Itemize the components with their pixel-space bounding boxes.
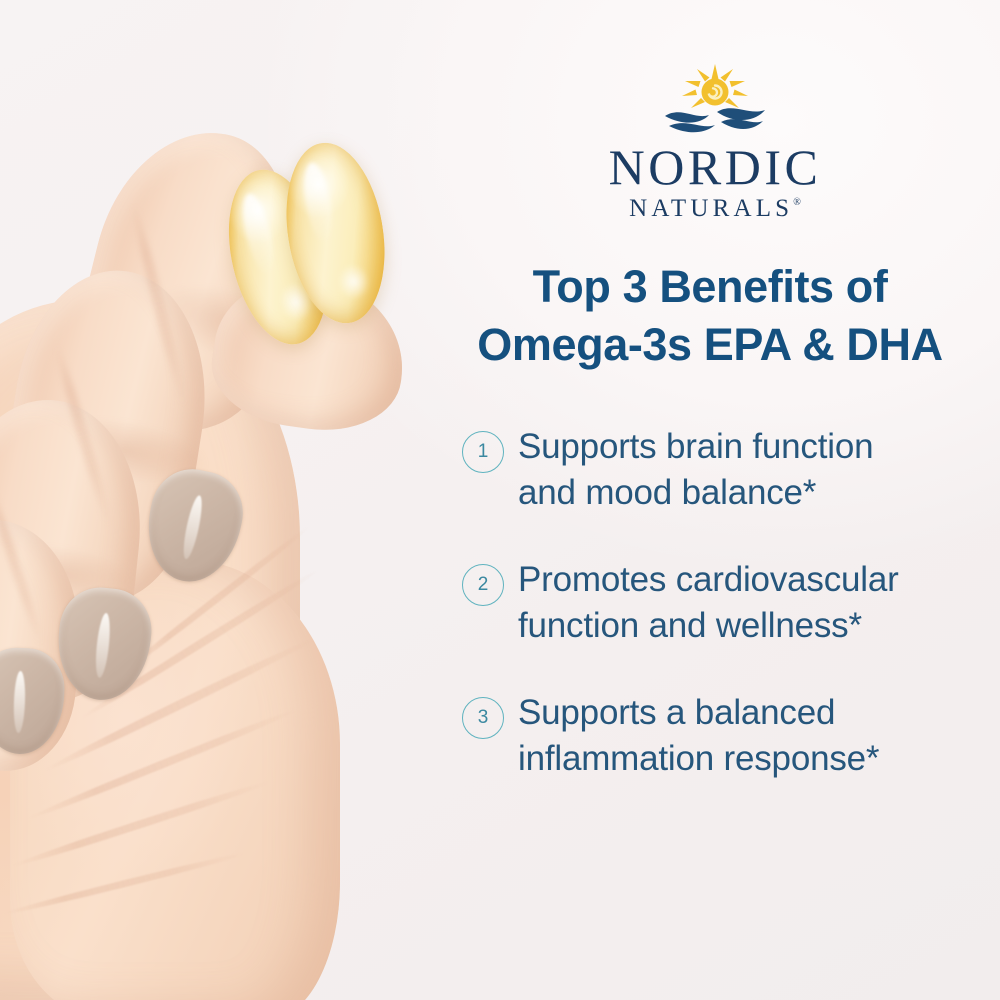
brand-sub-text: NATURALS — [629, 195, 793, 222]
headline-line-1: Top 3 Benefits of — [430, 258, 990, 316]
list-item: 3 Supports a balanced inflammation respo… — [462, 690, 990, 781]
headline-line-2: Omega-3s EPA & DHA — [430, 316, 990, 374]
benefit-text-line-2: and mood balance* — [518, 470, 873, 516]
benefit-text-line-2: inflammation response* — [518, 736, 879, 782]
benefit-number-badge: 2 — [462, 564, 504, 606]
brand-sub-wordmark: NATURALS® — [430, 195, 1000, 223]
brand-wordmark: NORDIC — [430, 142, 1000, 193]
page-title: Top 3 Benefits of Omega-3s EPA & DHA — [430, 258, 990, 373]
benefit-text: Supports brain function and mood balance… — [518, 424, 873, 515]
benefit-text: Promotes cardiovascular function and wel… — [518, 557, 899, 648]
registered-trademark-symbol: ® — [793, 197, 801, 208]
benefit-text-line-2: function and wellness* — [518, 603, 899, 649]
capsule-highlight — [335, 261, 373, 302]
capsule-highlight — [300, 161, 337, 244]
benefit-text: Supports a balanced inflammation respons… — [518, 690, 879, 781]
benefit-number-badge: 3 — [462, 697, 504, 739]
brand-logo: NORDIC NATURALS® — [430, 62, 1000, 223]
product-benefits-graphic: NORDIC NATURALS® Top 3 Benefits of Omega… — [0, 0, 1000, 1000]
benefit-text-line-1: Supports a balanced — [518, 690, 879, 736]
benefit-text-line-1: Promotes cardiovascular — [518, 557, 899, 603]
benefits-list: 1 Supports brain function and mood balan… — [462, 424, 990, 781]
sun-wave-logo-icon — [649, 62, 781, 138]
benefit-text-line-1: Supports brain function — [518, 424, 873, 470]
hand-holding-capsules-photo — [0, 0, 430, 1000]
content-column: NORDIC NATURALS® Top 3 Benefits of Omega… — [430, 0, 1000, 1000]
capsule-highlight — [238, 192, 280, 277]
benefit-number-badge: 1 — [462, 431, 504, 473]
list-item: 1 Supports brain function and mood balan… — [462, 424, 990, 515]
list-item: 2 Promotes cardiovascular function and w… — [462, 557, 990, 648]
